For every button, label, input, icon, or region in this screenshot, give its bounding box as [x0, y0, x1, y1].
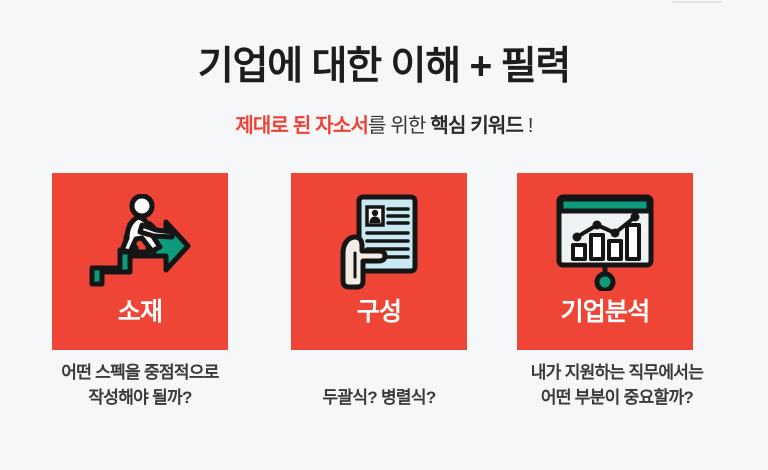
card-label-gieopbunseok: 기업분석: [561, 297, 650, 327]
card-label-soje: 소재: [118, 297, 162, 327]
caption-gieopbunseok: 내가 지원하는 직무에서는 어떤 부분이 중요할까?: [492, 360, 742, 410]
subtitle-middle-text: 를 위한: [368, 115, 430, 137]
stairs-person-arrow-icon: [86, 193, 194, 291]
card-guseong[interactable]: 구성: [291, 173, 467, 350]
presentation-chart-icon: [553, 193, 657, 291]
page-title: 기업에 대한 이해 + 필력: [0, 44, 768, 90]
subtitle-bold-text: 핵심 키워드: [430, 115, 523, 137]
caption-line: 작성해야 될까?: [15, 385, 265, 410]
caption-line: 내가 지원하는 직무에서는: [492, 360, 742, 385]
card-gieopbunseok[interactable]: 기업분석: [517, 173, 693, 350]
caption-row: 어떤 스펙을 중점적으로 작성해야 될까? 두괄식? 병렬식? 내가 지원하는 …: [0, 360, 768, 440]
card-row: 소재 구성: [0, 173, 768, 351]
caption-line: 어떤 스펙을 중점적으로: [15, 360, 265, 385]
subtitle-accent-text: 제대로 된 자소서: [235, 115, 368, 137]
page-subtitle: 제대로 된 자소서를 위한 핵심 키워드 !: [0, 112, 768, 140]
hand-holding-resume-icon: [333, 193, 425, 291]
subtitle-exclamation: !: [523, 115, 533, 137]
caption-line: 어떤 부분이 중요할까?: [492, 385, 742, 410]
card-soje[interactable]: 소재: [52, 173, 228, 350]
card-label-guseong: 구성: [357, 297, 401, 327]
caption-guseong: 두괄식? 병렬식?: [254, 385, 504, 410]
caption-line: 두괄식? 병렬식?: [254, 385, 504, 410]
top-divider-line: [672, 1, 722, 3]
caption-soje: 어떤 스펙을 중점적으로 작성해야 될까?: [15, 360, 265, 410]
